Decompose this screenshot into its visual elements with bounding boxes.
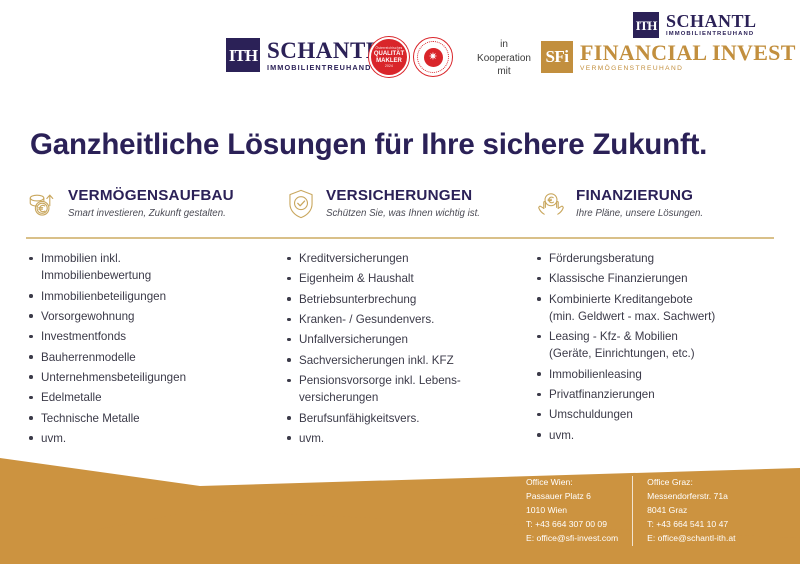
ith-brand-name-corner: SCHANTL [666,12,757,30]
column-header-text-0: VERMÖGENSAUFBAU Smart investieren, Zukun… [68,186,234,219]
ith-monogram-icon: ITH [226,38,260,72]
list-item: Klassische Finanzierungen [534,270,774,287]
list-item: Berufsunfähigkeitsvers. [284,410,534,427]
list-item: Vorsorgewohnung [26,308,284,325]
seal-top-text: Österreichisches [376,46,403,50]
sfi-brand-name: FINANCIAL INVEST [580,42,796,64]
list-item: Immobilienbeteiligungen [26,288,284,305]
logo-ith-schantl-corner: ITH SCHANTL IMMOBILIENTREUHAND [633,12,757,38]
column-title-2: FINANZIERUNG [576,188,703,205]
flyer-page: ITH SCHANTL IMMOBILIENTREUHAND Österreic… [0,0,800,564]
list-item: Kombinierte Kreditangebote(min. Geldwert… [534,291,774,325]
office-wien-city: 1010 Wien [526,504,618,518]
logo-sfi-financial-invest: SFi FINANCIAL INVEST VERMÖGENSTREUHAND [541,41,796,73]
ith-monogram-label: ITH [229,47,257,64]
office-wien-email[interactable]: E: office@sfi-invest.com [526,532,618,546]
sfi-wordmark: FINANCIAL INVEST VERMÖGENSTREUHAND [580,42,796,73]
cooperation-line-1: in [468,38,540,52]
column-title-0: VERMÖGENSAUFBAU [68,188,234,205]
ith-wordmark: SCHANTL IMMOBILIENTREUHAND [267,39,382,71]
column-subtitle-0: Smart investieren, Zukunft gestalten. [68,208,234,219]
column-subtitle-2: Ihre Pläne, unsere Lösungen. [576,208,703,219]
ith-wordmark-corner: SCHANTL IMMOBILIENTREUHAND [666,12,757,38]
seal-bottom-text: 2024 [385,64,393,68]
list-item: Bauherrenmodelle [26,349,284,366]
column-header-text-1: VERSICHERUNGEN Schützen Sie, was Ihnen w… [326,186,480,219]
office-wien-phone[interactable]: T: +43 664 307 00 09 [526,518,618,532]
ith-brand-tagline: IMMOBILIENTREUHAND [267,64,382,71]
list-item: Betriebsunterbrechung [284,291,534,308]
service-list-versicherungen: Kreditversicherungen Eigenheim & Haushal… [284,250,534,450]
list-item: Unfallversicherungen [284,331,534,348]
column-header-versicherungen: VERSICHERUNGEN Schützen Sie, was Ihnen w… [284,186,534,221]
ith-monogram-corner-label: ITH [636,19,657,32]
list-item: Kranken- / Gesundenvers. [284,311,534,328]
page-title: Ganzheitliche Lösungen für Ihre sichere … [30,128,707,162]
list-item-text: Immobilien inkl. [41,252,121,265]
column-header-vermoegensaufbau: VERMÖGENSAUFBAU Smart investieren, Zukun… [26,186,284,221]
logo-ith-schantl-main: ITH SCHANTL IMMOBILIENTREUHAND [226,38,382,72]
hands-holding-euro-icon [534,187,568,221]
list-item-cont: Immobilienbewertung [41,267,284,284]
seal-dotted-ring [417,41,449,73]
list-item: Kreditversicherungen [284,250,534,267]
list-item: Immobilienleasing [534,366,774,383]
ith-brand-name: SCHANTL [267,39,382,62]
list-item-text: Kombinierte Kreditangebote [549,293,693,306]
ith-brand-tagline-corner: IMMOBILIENTREUHAND [666,32,757,38]
contact-info: Office Wien: Passauer Platz 6 1010 Wien … [526,476,736,546]
list-item-cont: (min. Geldwert - max. Sachwert) [549,308,774,325]
list-item: Edelmetalle [26,389,284,406]
list-item: Investmentfonds [26,328,284,345]
list-item: Technische Metalle [26,410,284,427]
sfi-brand-tagline: VERMÖGENSTREUHAND [580,66,796,73]
list-item-cont: versicherungen [299,389,534,406]
list-item: Leasing - Kfz- & Mobilien(Geräte, Einric… [534,328,774,362]
column-header-finanzierung: FINANZIERUNG Ihre Pläne, unsere Lösungen… [534,186,774,221]
list-item-text: Leasing - Kfz- & Mobilien [549,330,678,343]
service-list-vermoegensaufbau: Immobilien inkl.Immobilienbewertung Immo… [26,250,284,450]
column-title-1: VERSICHERUNGEN [326,188,480,205]
list-item: Eigenheim & Haushalt [284,270,534,287]
contact-office-wien: Office Wien: Passauer Platz 6 1010 Wien … [526,476,632,546]
office-wien-title: Office Wien: [526,476,618,490]
office-graz-title: Office Graz: [647,476,735,490]
list-item: Unternehmensbeteiligungen [26,369,284,386]
cooperation-note: in Kooperation mit [468,38,540,79]
logo-bar: ITH SCHANTL IMMOBILIENTREUHAND Österreic… [0,0,800,100]
service-column-headers: VERMÖGENSAUFBAU Smart investieren, Zukun… [0,186,800,221]
qualitaetsmakler-seal-icon: Österreichisches QUALITÄT MAKLER 2024 [369,37,409,77]
ith-monogram-corner-icon: ITH [633,12,659,38]
list-item: Umschuldungen [534,406,774,423]
office-graz-street: Messendorferstr. 71a [647,490,735,504]
list-item: Pensionsvorsorge inkl. Lebens-versicheru… [284,372,534,406]
list-item-text: Pensionsvorsorge inkl. Lebens- [299,374,461,387]
gold-divider-line [26,237,774,239]
office-graz-phone[interactable]: T: +43 664 541 10 47 [647,518,735,532]
sfi-monogram-icon: SFi [541,41,573,73]
service-list-finanzierung: Förderungsberatung Klassische Finanzieru… [534,250,774,450]
list-item-cont: (Geräte, Einrichtungen, etc.) [549,345,774,362]
service-lists: Immobilien inkl.Immobilienbewertung Immo… [0,250,800,450]
cooperation-line-3: mit [468,65,540,79]
cooperation-line-2: Kooperation [468,52,540,66]
office-graz-email[interactable]: E: office@schantl-ith.at [647,532,735,546]
list-item: Förderungsberatung [534,250,774,267]
column-subtitle-1: Schützen Sie, was Ihnen wichtig ist. [326,208,480,219]
list-item: Privatfinanzierungen [534,386,774,403]
shield-check-icon [284,187,318,221]
coins-euro-growth-icon [26,187,60,221]
contact-office-graz: Office Graz: Messendorferstr. 71a 8041 G… [632,476,735,546]
office-wien-street: Passauer Platz 6 [526,490,618,504]
list-item: Sachversicherungen inkl. KFZ [284,352,534,369]
office-graz-city: 8041 Graz [647,504,735,518]
immobilienring-seal-icon: ✷ [413,37,453,77]
column-header-text-2: FINANZIERUNG Ihre Pläne, unsere Lösungen… [576,186,703,219]
list-item: Immobilien inkl.Immobilienbewertung [26,250,284,284]
